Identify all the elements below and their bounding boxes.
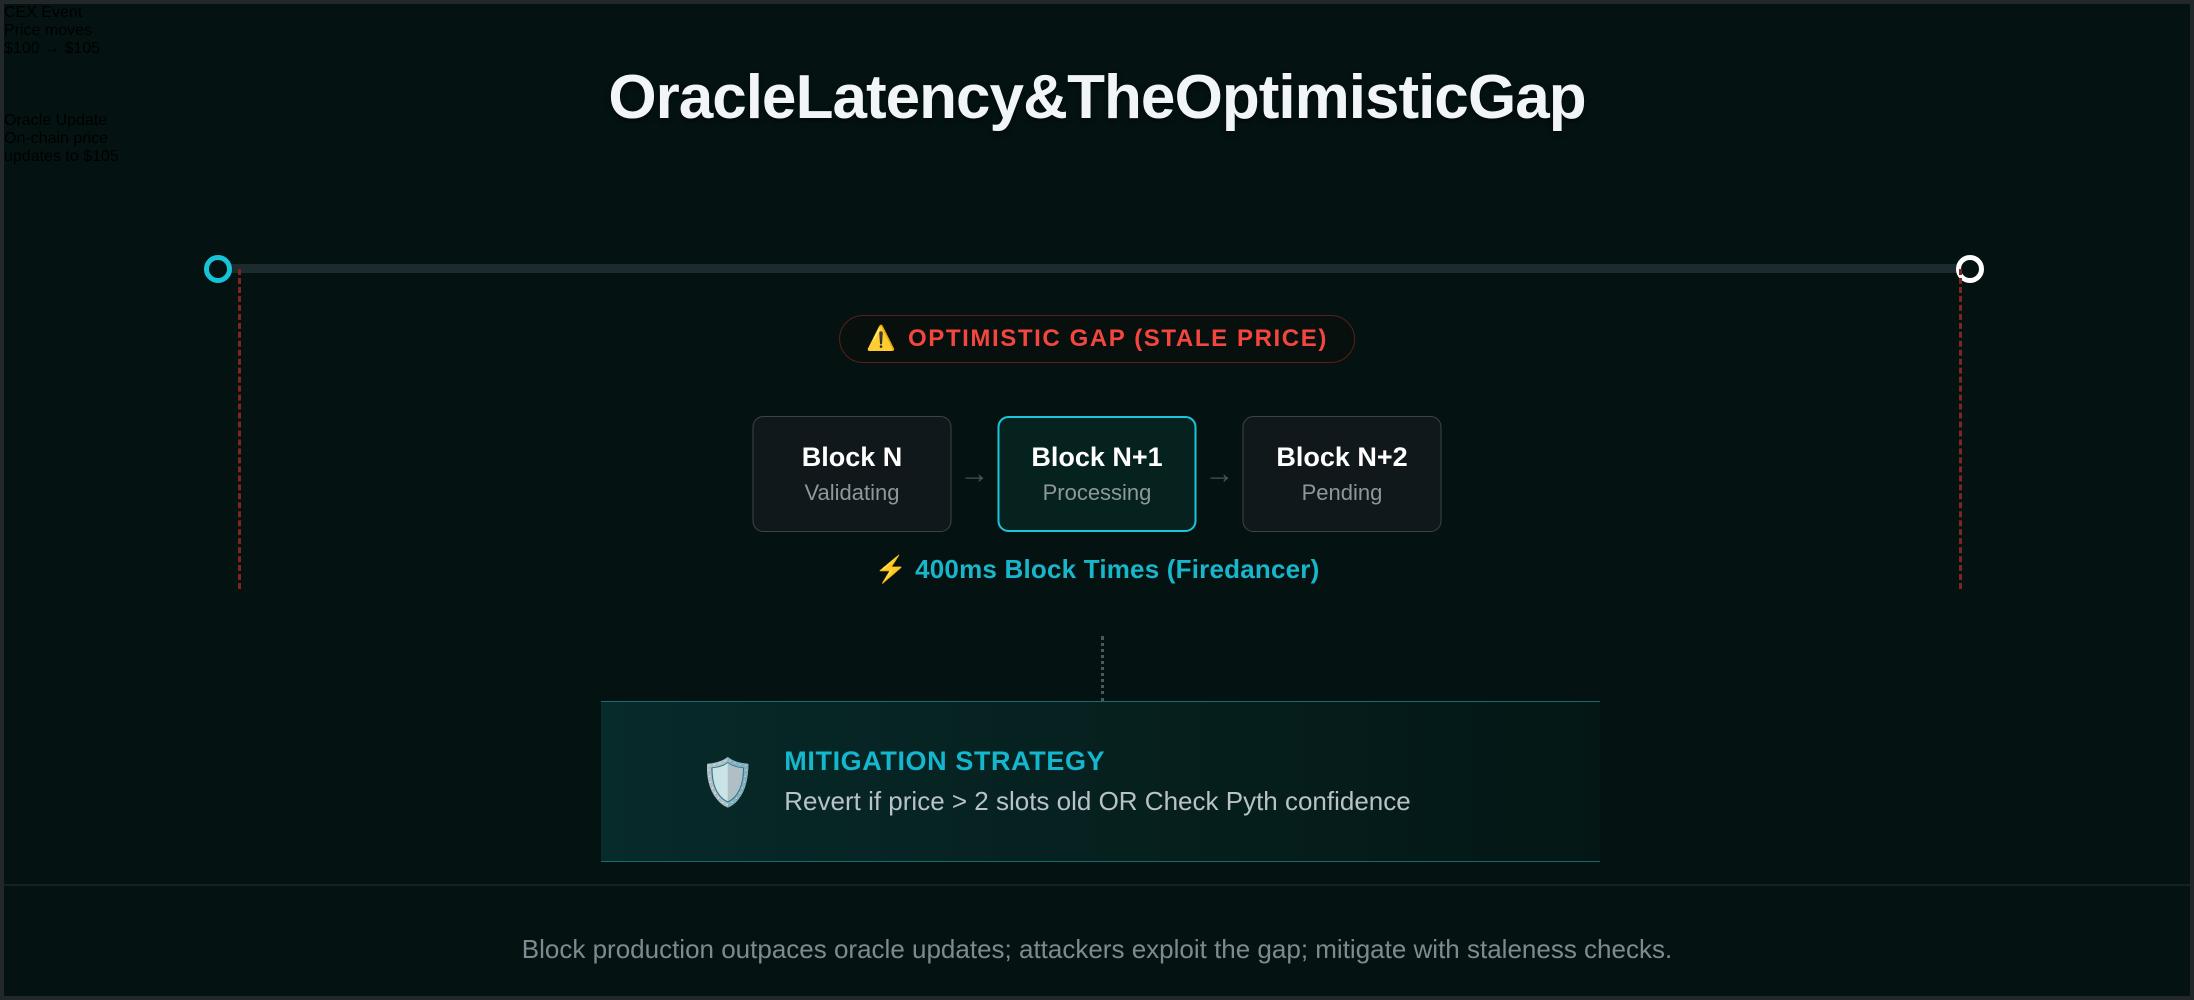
timeline-node-start (204, 255, 232, 283)
footer-summary: Block production outpaces oracle updates… (4, 934, 2190, 965)
timeline-track (222, 264, 1968, 273)
cex-event-line1: Price moves (4, 22, 400, 40)
cex-event-heading: CEX Event (4, 4, 392, 22)
block-status: Validating (805, 480, 900, 506)
diagram-canvas: Oracle Latency & The Optimistic Gap CEX … (4, 4, 2190, 996)
cex-event-price-change: $100 → $105 (4, 40, 400, 58)
timeline-guide-left (238, 269, 241, 589)
block-name: Block N+2 (1276, 442, 1407, 473)
oracle-update-line2: updates to $105 (4, 148, 396, 166)
mitigation-description: Revert if price > 2 slots old OR Check P… (784, 786, 1410, 817)
block-time-label: 400ms Block Times (Firedancer) (915, 554, 1319, 584)
dotted-connector (1101, 636, 1104, 702)
block-name: Block N (802, 442, 903, 473)
block-card-n[interactable]: Block N Validating (753, 416, 952, 532)
lightning-bolt-icon: ⚡ (875, 554, 908, 584)
arrow-icon: → (952, 459, 998, 489)
block-status: Processing (1043, 480, 1152, 506)
timeline-guide-right (1959, 269, 1962, 589)
block-name: Block N+1 (1031, 442, 1162, 473)
page-title: Oracle Latency & The Optimistic Gap (4, 62, 2190, 133)
oracle-update-card: On-chain price updates to $105 (4, 130, 396, 220)
block-card-n-plus-2[interactable]: Block N+2 Pending (1243, 416, 1442, 532)
block-time-caption: ⚡400ms Block Times (Firedancer) (4, 554, 2190, 585)
block-sequence: Block N Validating → Block N+1 Processin… (753, 416, 1442, 532)
mitigation-title: MITIGATION STRATEGY (784, 746, 1410, 777)
arrow-icon: → (1197, 459, 1243, 489)
block-status: Pending (1302, 480, 1383, 506)
warning-icon: ⚠️ (866, 327, 896, 351)
shield-icon: 🛡️ (699, 759, 756, 805)
optimistic-gap-label: OPTIMISTIC GAP (STALE PRICE) (908, 325, 1328, 353)
block-card-n-plus-1[interactable]: Block N+1 Processing (998, 416, 1197, 532)
mitigation-strategy-band: 🛡️ MITIGATION STRATEGY Revert if price >… (601, 701, 1600, 862)
optimistic-gap-badge: ⚠️ OPTIMISTIC GAP (STALE PRICE) (839, 315, 1355, 363)
footer-divider (4, 884, 2190, 886)
